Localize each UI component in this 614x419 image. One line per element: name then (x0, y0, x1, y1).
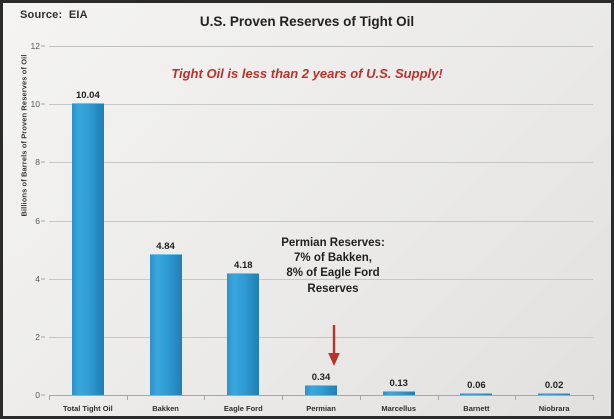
annotation-line: Permian Reserves: (259, 236, 407, 251)
annotation-line: 8% of Eagle Ford (259, 266, 407, 281)
y-tick-label: 8 (12, 157, 40, 167)
x-tick-mark (282, 395, 283, 400)
y-tick-mark (41, 104, 45, 105)
bar-slot: 4.84 (127, 46, 205, 395)
x-tick-mark (593, 395, 594, 400)
x-axis-categories: Total Tight OilBakkenEagle FordPermianMa… (49, 395, 593, 419)
y-tick-label: 10 (12, 99, 40, 109)
x-axis-label: Niobrara (515, 395, 593, 419)
bar-value-label: 0.02 (545, 380, 564, 391)
x-axis-label: Total Tight Oil (49, 395, 127, 419)
y-tick-mark (41, 278, 45, 279)
x-tick-mark (127, 395, 128, 400)
chart-title: U.S. Proven Reserves of Tight Oil (3, 14, 611, 29)
x-axis-label: Marcellus (360, 395, 438, 419)
bar-value-label: 10.04 (76, 90, 100, 101)
x-axis-label: Bakken (127, 395, 205, 419)
y-tick-mark (41, 220, 45, 221)
bar-value-label: 0.06 (467, 380, 486, 391)
bar-slot: 0.02 (515, 46, 593, 395)
y-tick-label: 0 (12, 390, 40, 400)
x-axis-label: Permian (282, 395, 360, 419)
bar-value-label: 0.13 (389, 378, 408, 389)
y-tick-mark (41, 162, 45, 163)
bar-slot: 4.18 (204, 46, 282, 395)
y-tick-label: 4 (12, 274, 40, 284)
bar-value-label: 0.34 (312, 372, 331, 383)
x-tick-mark (438, 395, 439, 400)
y-tick-label: 6 (12, 216, 40, 226)
bar[interactable]: 4.84 (150, 254, 182, 395)
y-axis-tick-labels: 024681012 (17, 46, 45, 395)
x-axis-label: Barnett (438, 395, 516, 419)
bar[interactable]: 4.18 (227, 273, 259, 395)
x-tick-mark (204, 395, 205, 400)
bar-value-label: 4.18 (234, 260, 253, 271)
chart-container: Source: EIA U.S. Proven Reserves of Tigh… (0, 0, 614, 419)
x-tick-mark (515, 395, 516, 400)
x-tick-mark (360, 395, 361, 400)
y-tick-mark (41, 46, 45, 47)
y-tick-label: 12 (12, 41, 40, 51)
bar-slot: 0.34 (282, 46, 360, 395)
y-tick-mark (41, 395, 45, 396)
bar-slot: 0.06 (438, 46, 516, 395)
plot-area: 10.044.844.180.340.130.060.02 (49, 46, 593, 395)
annotation-line: Reserves (259, 282, 407, 297)
x-tick-mark (49, 395, 50, 400)
annotation-line: 7% of Bakken, (259, 251, 407, 266)
x-axis-label: Eagle Ford (204, 395, 282, 419)
bar-value-label: 4.84 (156, 241, 175, 252)
headline-annotation: Tight Oil is less than 2 years of U.S. S… (3, 66, 611, 81)
bar[interactable]: 0.34 (305, 385, 337, 395)
bar[interactable]: 10.04 (72, 103, 104, 395)
y-tick-mark (41, 336, 45, 337)
bar-slot: 0.13 (360, 46, 438, 395)
bar-slot: 10.04 (49, 46, 127, 395)
permian-annotation: Permian Reserves:7% of Bakken,8% of Eagl… (259, 236, 407, 297)
y-tick-label: 2 (12, 332, 40, 342)
down-arrow-icon (326, 325, 342, 367)
